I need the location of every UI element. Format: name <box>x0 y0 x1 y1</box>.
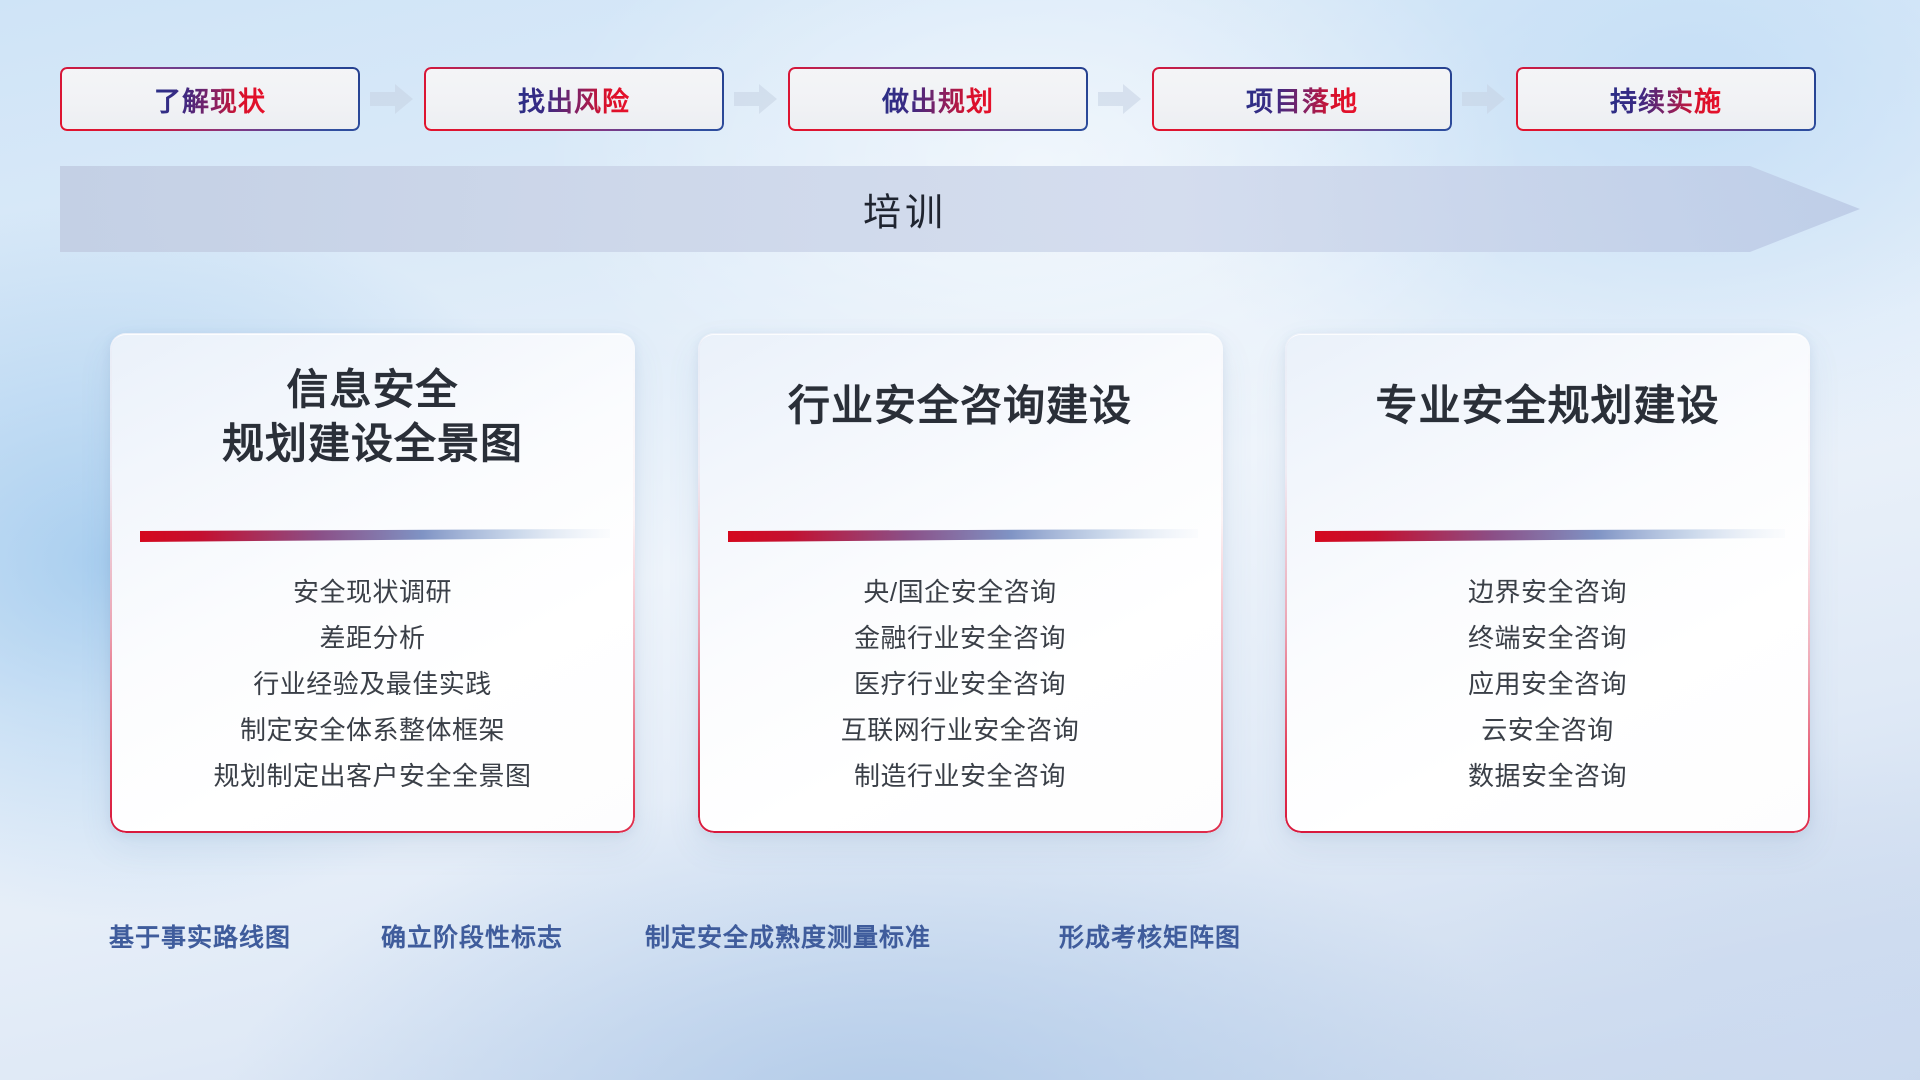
card-information-security-blueprint[interactable]: 信息安全 规划建设全景图 <box>110 333 635 833</box>
list-item: 制造行业安全咨询 <box>698 753 1223 799</box>
arrow-right-icon <box>1462 83 1506 115</box>
card-title: 信息安全 规划建设全景图 <box>198 363 547 471</box>
list-item: 互联网行业安全咨询 <box>698 707 1223 753</box>
gradient-divider-icon <box>1315 529 1785 542</box>
card-title-line: 信息安全 <box>222 363 523 417</box>
list-item: 数据安全咨询 <box>1285 753 1810 799</box>
step-label: 持续实施 <box>1610 80 1722 119</box>
list-item: 制定安全体系整体框架 <box>110 707 635 753</box>
footer-label-1: 基于事实路线图 <box>109 918 291 954</box>
list-item: 金融行业安全咨询 <box>698 615 1223 661</box>
list-item: 差距分析 <box>110 615 635 661</box>
card-title-line: 专业安全规划建设 <box>1375 379 1719 433</box>
step-chip-2[interactable]: 找出风险 <box>424 67 724 131</box>
process-step-row: 了解现状 找出风险 做出规划 项目落地 <box>60 66 1860 132</box>
card-list: 央/国企安全咨询 金融行业安全咨询 医疗行业安全咨询 互联网行业安全咨询 制造行… <box>698 551 1223 833</box>
step-label: 项目落地 <box>1246 80 1358 119</box>
card-title: 行业安全咨询建设 <box>764 379 1156 433</box>
list-item: 医疗行业安全咨询 <box>698 661 1223 707</box>
footer-label-row: 基于事实路线图 确立阶段性标志 制定安全成熟度测量标准 形成考核矩阵图 <box>0 918 1920 958</box>
card-divider-wrap <box>110 525 635 551</box>
banner-title: 培训 <box>60 182 1860 237</box>
training-banner: 培训 <box>60 166 1860 252</box>
list-item: 边界安全咨询 <box>1285 569 1810 615</box>
list-item: 应用安全咨询 <box>1285 661 1810 707</box>
gradient-divider-icon <box>140 529 610 542</box>
arrow-right-icon <box>1098 83 1142 115</box>
step-chip-5[interactable]: 持续实施 <box>1516 67 1816 131</box>
step-label: 做出规划 <box>882 80 994 119</box>
step-label: 了解现状 <box>154 80 266 119</box>
card-list: 安全现状调研 差距分析 行业经验及最佳实践 制定安全体系整体框架 规划制定出客户… <box>110 551 635 833</box>
card-title-line: 行业安全咨询建设 <box>788 379 1132 433</box>
list-item: 央/国企安全咨询 <box>698 569 1223 615</box>
list-item: 规划制定出客户安全全景图 <box>110 753 635 799</box>
list-item: 行业经验及最佳实践 <box>110 661 635 707</box>
list-item: 安全现状调研 <box>110 569 635 615</box>
card-row: 信息安全 规划建设全景图 <box>110 333 1810 833</box>
gradient-divider-icon <box>728 529 1198 542</box>
card-divider-wrap <box>698 525 1223 551</box>
footer-label-3: 制定安全成熟度测量标准 <box>645 918 931 954</box>
card-industry-security-consulting[interactable]: 行业安全咨询建设 <box>698 333 1223 833</box>
step-chip-4[interactable]: 项目落地 <box>1152 67 1452 131</box>
arrow-right-icon <box>734 83 778 115</box>
footer-label-4: 形成考核矩阵图 <box>1059 918 1241 954</box>
arrow-right-icon <box>370 83 414 115</box>
slide-canvas: 了解现状 找出风险 做出规划 项目落地 <box>0 0 1920 1080</box>
list-item: 云安全咨询 <box>1285 707 1810 753</box>
card-divider-wrap <box>1285 525 1810 551</box>
list-item: 终端安全咨询 <box>1285 615 1810 661</box>
step-label: 找出风险 <box>518 80 630 119</box>
card-professional-security-planning[interactable]: 专业安全规划建设 <box>1285 333 1810 833</box>
step-chip-1[interactable]: 了解现状 <box>60 67 360 131</box>
step-chip-3[interactable]: 做出规划 <box>788 67 1088 131</box>
card-list: 边界安全咨询 终端安全咨询 应用安全咨询 云安全咨询 数据安全咨询 <box>1285 551 1810 833</box>
card-title-line: 规划建设全景图 <box>222 417 523 471</box>
card-title: 专业安全规划建设 <box>1351 379 1743 433</box>
footer-label-2: 确立阶段性标志 <box>381 918 563 954</box>
